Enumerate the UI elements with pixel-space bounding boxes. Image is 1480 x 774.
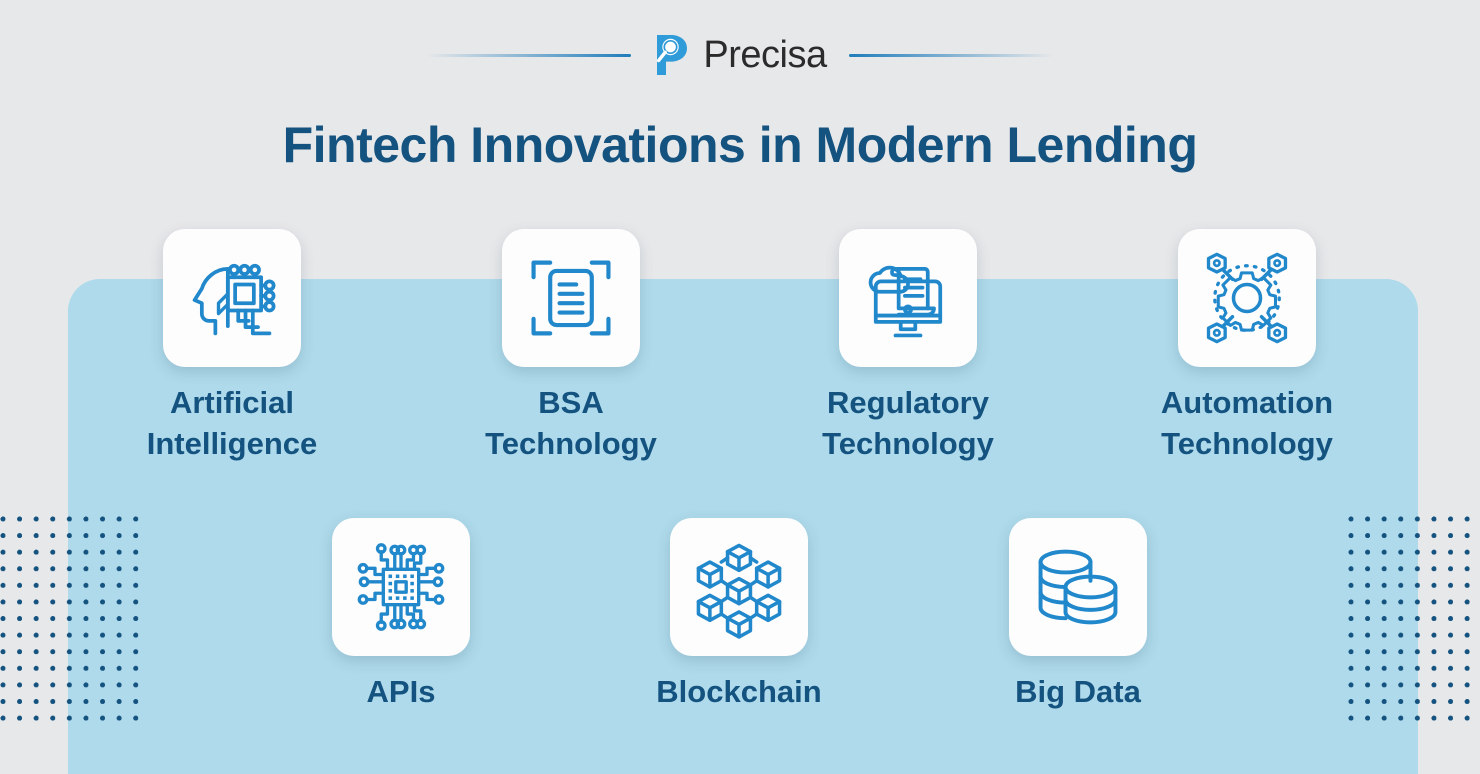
icon-card [1178, 229, 1316, 367]
item-big-data[interactable]: Big Data [928, 518, 1228, 713]
icon-card [670, 518, 808, 656]
item-regulatory-technology[interactable]: Regulatory Technology [758, 229, 1058, 465]
item-label: Automation Technology [1097, 383, 1397, 465]
item-label: Big Data [928, 672, 1228, 713]
gradient-rule-left [426, 54, 631, 57]
blockchain-cubes-icon [687, 535, 791, 639]
icon-card [163, 229, 301, 367]
document-scan-icon [519, 246, 623, 350]
brand-name: Precisa [703, 36, 826, 74]
item-artificial-intelligence[interactable]: Artificial Intelligence [82, 229, 382, 465]
precisa-p-magnifier-logo [653, 33, 691, 77]
icon-card [502, 229, 640, 367]
item-blockchain[interactable]: Blockchain [589, 518, 889, 713]
monitor-document-cloud-icon [856, 246, 960, 350]
gradient-rule-right [849, 54, 1054, 57]
item-apis[interactable]: APIs [251, 518, 551, 713]
brand-logo: Precisa [653, 33, 826, 77]
item-label: APIs [251, 672, 551, 713]
item-bsa-technology[interactable]: BSA Technology [421, 229, 721, 465]
icon-card [839, 229, 977, 367]
item-label: Regulatory Technology [758, 383, 1058, 465]
item-label: Artificial Intelligence [82, 383, 382, 465]
header: Precisa [0, 0, 1480, 110]
item-label: Blockchain [589, 672, 889, 713]
icon-card [332, 518, 470, 656]
microchip-cpu-icon [349, 535, 453, 639]
item-label: BSA Technology [421, 383, 721, 465]
database-stack-icon [1026, 535, 1130, 639]
page-title: Fintech Innovations in Modern Lending [0, 116, 1480, 174]
ai-head-circuit-icon [180, 246, 284, 350]
gear-network-icon [1195, 246, 1299, 350]
item-automation-technology[interactable]: Automation Technology [1097, 229, 1397, 465]
icon-card [1009, 518, 1147, 656]
